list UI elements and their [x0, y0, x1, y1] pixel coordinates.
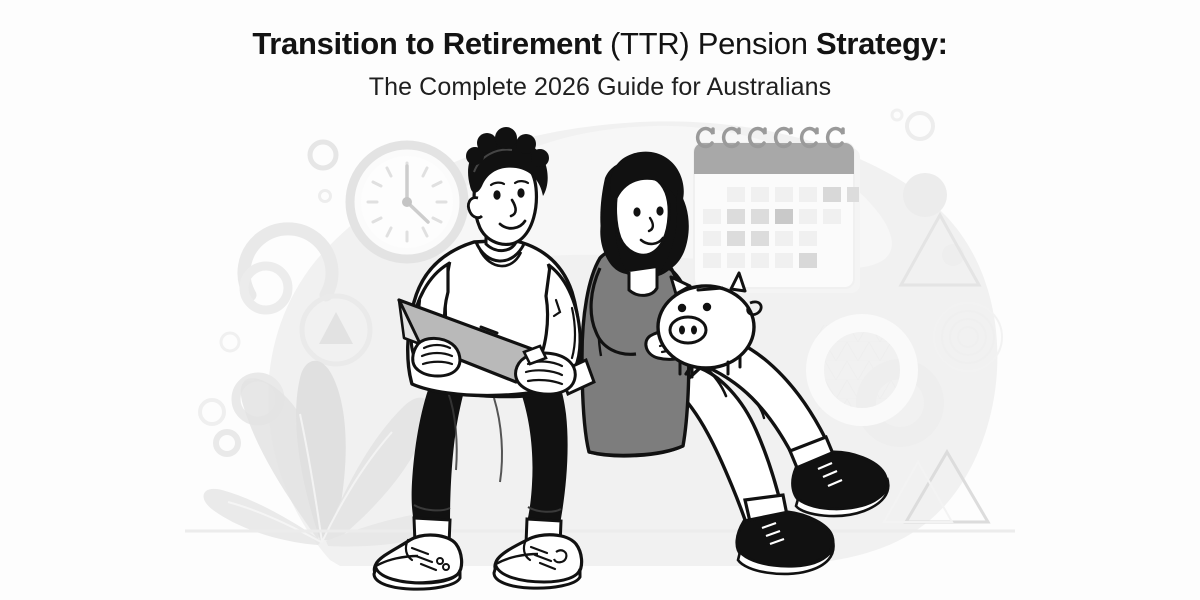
page-title: Transition to Retirement (TTR) Pension S… — [0, 0, 1200, 62]
page-subtitle: The Complete 2026 Guide for Australians — [0, 62, 1200, 102]
poster-canvas: Transition to Retirement (TTR) Pension S… — [0, 0, 1200, 600]
woman-shoe-back — [737, 512, 834, 574]
header-block: Transition to Retirement (TTR) Pension S… — [0, 0, 1200, 102]
decorative-circle-icon — [892, 110, 902, 120]
title-segment-light: (TTR) Pension — [610, 26, 816, 61]
decorative-circle-icon — [320, 191, 331, 202]
title-segment-bold-2: Strategy: — [816, 26, 948, 61]
man-left-hand — [413, 338, 460, 376]
decorative-circle-icon — [200, 400, 224, 424]
wall-clock-icon — [350, 145, 464, 259]
decorative-dot-icon — [903, 173, 947, 217]
desk-calendar-icon — [694, 129, 860, 293]
decorative-circle-icon — [216, 432, 238, 454]
decorative-circle-icon — [310, 142, 336, 168]
title-segment-bold-1: Transition to Retirement — [252, 26, 610, 61]
decorative-circle-icon — [907, 113, 933, 139]
decorative-circle-icon — [221, 333, 239, 351]
